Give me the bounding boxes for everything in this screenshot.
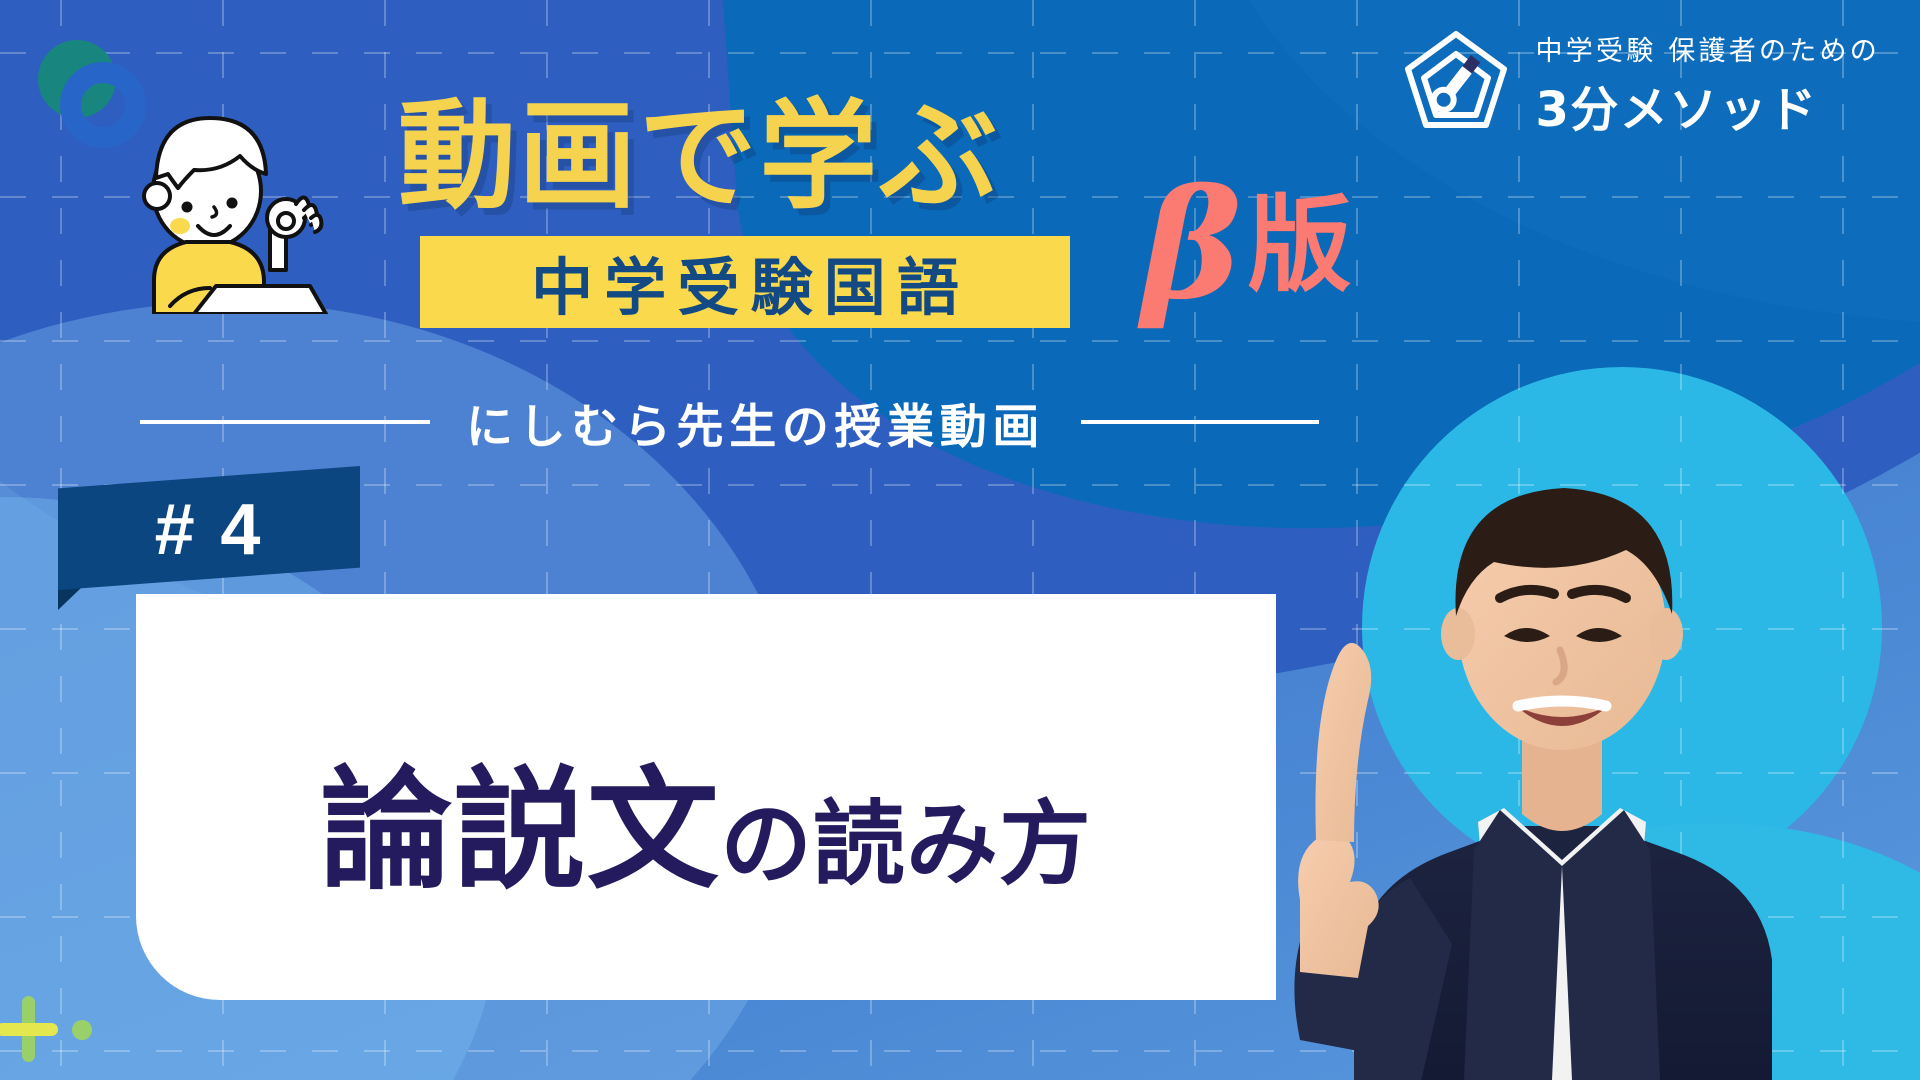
boy-with-laptop-illustration xyxy=(74,74,354,314)
content-card: 論説文の読み方 xyxy=(136,594,1276,1000)
subtitle-rule-left xyxy=(140,420,430,424)
subtitle-row: にしむら先生の授業動画 xyxy=(140,392,1340,452)
beta-suffix: 版 xyxy=(1248,184,1352,306)
beta-version-badge: β版 xyxy=(1142,170,1346,327)
brand-logo-text: 中学受験 保護者のための 3分メソッド xyxy=(1536,29,1880,140)
brand-tagline: 中学受験 保護者のための xyxy=(1536,29,1880,68)
card-title-rest: の読み方 xyxy=(720,791,1092,898)
card-title-strong: 論説文 xyxy=(320,754,720,908)
beta-symbol: β xyxy=(1142,157,1242,333)
lime-plus-bar-icon xyxy=(0,1023,58,1036)
card-title: 論説文の読み方 xyxy=(136,724,1276,915)
episode-number: # 4 xyxy=(155,489,264,571)
subject-badge: 中学受験国語 xyxy=(420,236,1070,328)
thumbnail-canvas: 動画で学ぶ 中学受験国語 β版 にしむら先生の授業動画 # 4 論説文の読み方 xyxy=(0,0,1920,1080)
pentagon-pen-icon xyxy=(1398,26,1514,142)
teacher-photo xyxy=(1204,340,1884,1080)
page-title-main: 動画で学ぶ xyxy=(398,60,1000,231)
brand-logo: 中学受験 保護者のための 3分メソッド xyxy=(1398,26,1880,142)
brand-name: 3分メソッド xyxy=(1536,70,1818,140)
subject-badge-label: 中学受験国語 xyxy=(520,237,970,327)
green-dot-icon xyxy=(72,1020,92,1040)
subtitle-text: にしむら先生の授業動画 xyxy=(466,388,1045,457)
